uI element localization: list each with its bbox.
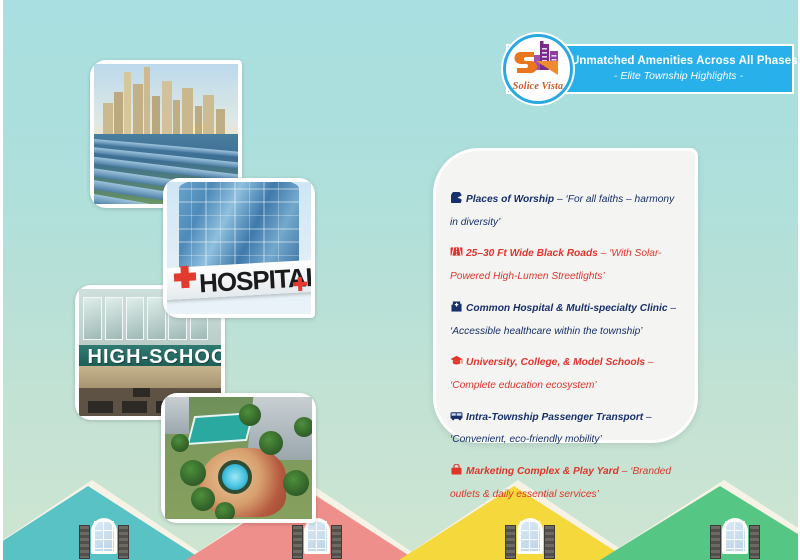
amenity-desc: ‘Complete education ecosystem’	[450, 380, 597, 391]
banner-title: Unmatched Amenities Across All Phases	[571, 54, 786, 70]
amenity-title: Common Hospital & Multi-specialty Clinic	[466, 303, 668, 314]
photo-resort-pool-courtyard	[161, 393, 316, 523]
mosque-worship-icon	[450, 192, 463, 203]
house-window	[91, 518, 117, 554]
amenity-title: Marketing Complex & Play Yard	[466, 466, 619, 477]
amenity-places-of-worship: Places of Worship – ‘For all faiths – ha…	[450, 187, 677, 232]
graduation-cap-icon	[450, 355, 463, 366]
house-window	[517, 518, 543, 554]
amenity-dash: –	[554, 194, 565, 205]
building-tower-icon	[506, 39, 570, 85]
amenity-desc: ‘Convenient, eco-friendly mobility’	[450, 434, 602, 445]
amenity-title: University, College, & Model Schools	[466, 357, 645, 368]
hospital-building-icon	[450, 301, 463, 312]
amenity-dash: –	[643, 412, 652, 423]
amenity-title: Places of Worship	[466, 194, 554, 205]
house-window	[722, 518, 748, 554]
amenity-title: Intra-Township Passenger Transport	[466, 412, 643, 423]
shopping-bag-icon	[450, 464, 463, 475]
brand-logo[interactable]: Solice Vista	[503, 34, 573, 104]
amenity-university-schools: University, College, & Model Schools – ‘…	[450, 350, 677, 395]
amenity-passenger-transport: Intra-Township Passenger Transport – ‘Co…	[450, 405, 677, 450]
amenity-dash: –	[598, 248, 609, 259]
amenity-dash: –	[668, 303, 677, 314]
amenity-title: 25–30 Ft Wide Black Roads	[466, 248, 598, 259]
house-window	[304, 518, 330, 554]
amenity-desc: ‘Accessible healthcare within the townsh…	[450, 326, 643, 337]
photo-hospital-building: HOSPITAL	[163, 178, 315, 318]
amenity-hospital-clinic: Common Hospital & Multi-specialty Clinic…	[450, 296, 677, 341]
road-icon	[450, 246, 463, 257]
poster-canvas: HOSPITAL HIGH-SCHOOL	[0, 0, 800, 560]
red-cross-icon-small	[292, 277, 307, 292]
amenities-panel: Places of Worship – ‘For all faiths – ha…	[433, 148, 698, 443]
bus-icon	[450, 410, 463, 421]
amenity-marketing-complex: Marketing Complex & Play Yard – ‘Branded…	[450, 459, 677, 504]
amenity-dash: –	[619, 466, 630, 477]
red-cross-icon	[174, 266, 197, 289]
amenity-black-roads: 25–30 Ft Wide Black Roads – ‘With Solar-…	[450, 241, 677, 286]
amenity-dash: –	[645, 357, 654, 368]
banner-subtitle: - Elite Township Highlights -	[571, 69, 786, 84]
school-sign-text: HIGH-SCHOOL	[88, 346, 221, 369]
bottom-house-row	[3, 470, 798, 560]
logo-brand-name: Solice Vista	[506, 81, 570, 92]
